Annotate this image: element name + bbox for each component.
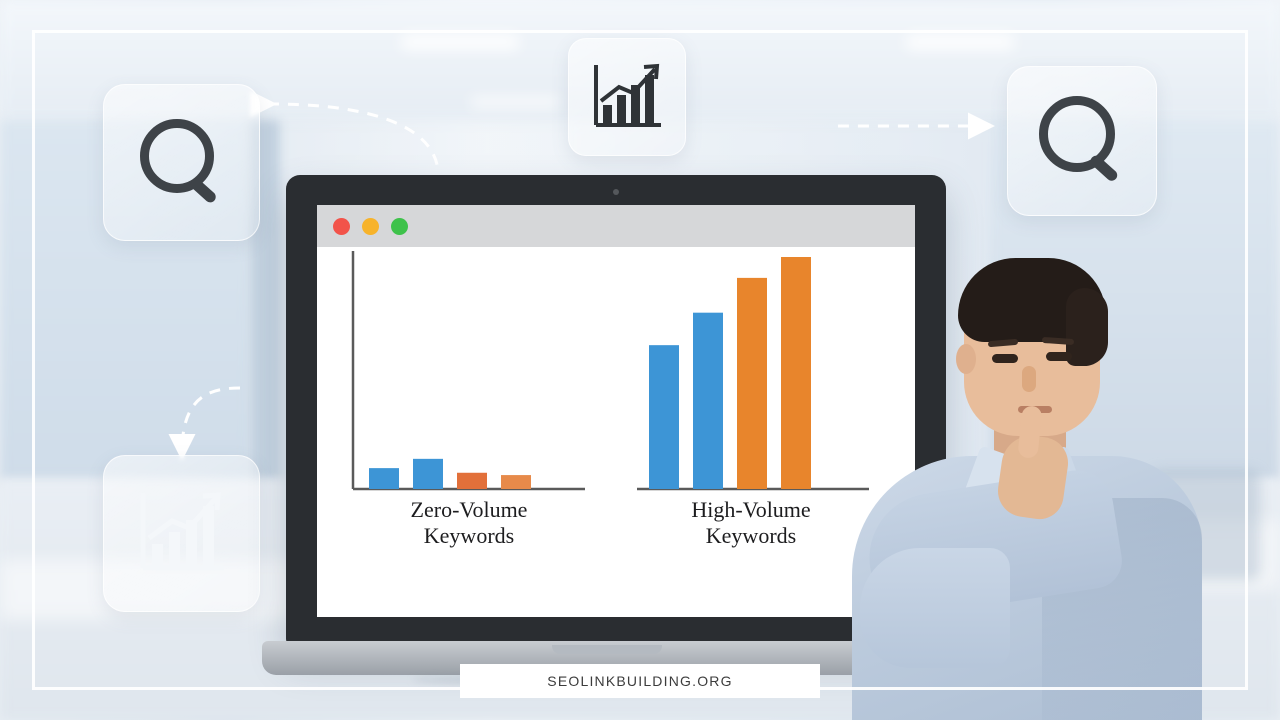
bar-2-1 — [649, 345, 679, 489]
background-light — [470, 96, 560, 108]
bar-chart-canvas — [317, 247, 915, 617]
person-eye-left — [992, 354, 1018, 363]
bar-chart-growth-icon — [134, 488, 230, 580]
chart-tile-left — [103, 455, 260, 612]
background-light — [400, 34, 520, 50]
group-label-line1: High-Volume — [635, 497, 867, 523]
bar-2-3 — [737, 278, 767, 489]
watermark-text: SEOLINKBUILDING.ORG — [547, 673, 732, 689]
person-hair-side — [1066, 288, 1108, 366]
search-tile-left — [103, 84, 260, 241]
person-sleeve — [860, 548, 1010, 668]
person-eye-right — [1046, 352, 1072, 361]
group-label-line2: Keywords — [353, 523, 585, 549]
group-label-line2: Keywords — [635, 523, 867, 549]
bar-2-2 — [693, 313, 723, 489]
group-label-zero-volume: Zero-Volume Keywords — [353, 497, 585, 549]
laptop-screen: Zero-Volume Keywords High-Volume Keyword… — [317, 205, 915, 617]
magnifier-icon — [1035, 94, 1129, 188]
watermark: SEOLINKBUILDING.ORG — [460, 664, 820, 698]
minimize-window-button[interactable] — [362, 218, 379, 235]
search-tile-right — [1007, 66, 1157, 216]
bar-1-4 — [501, 475, 531, 489]
group-label-high-volume: High-Volume Keywords — [635, 497, 867, 549]
bar-chart-growth-icon — [589, 61, 665, 133]
laptop-trackpad-notch — [552, 645, 662, 654]
screenshot-stage: Zero-Volume Keywords High-Volume Keyword… — [0, 0, 1280, 720]
group-label-line1: Zero-Volume — [353, 497, 585, 523]
bar-1-3 — [457, 473, 487, 489]
laptop: Zero-Volume Keywords High-Volume Keyword… — [262, 175, 952, 675]
bar-chart: Zero-Volume Keywords High-Volume Keyword… — [317, 247, 915, 617]
background-light — [905, 34, 1015, 50]
webcam-icon — [613, 189, 619, 195]
magnifier-icon — [134, 115, 230, 211]
bar-1-2 — [413, 459, 443, 489]
laptop-screen-shell: Zero-Volume Keywords High-Volume Keyword… — [286, 175, 946, 645]
person-photo — [852, 248, 1202, 720]
close-window-button[interactable] — [333, 218, 350, 235]
person-ear — [956, 344, 976, 374]
chart-tile-top — [568, 38, 686, 156]
person-nose — [1022, 366, 1036, 392]
bar-1-1 — [369, 468, 399, 489]
maximize-window-button[interactable] — [391, 218, 408, 235]
browser-title-bar — [317, 205, 915, 247]
bar-2-4 — [781, 257, 811, 489]
